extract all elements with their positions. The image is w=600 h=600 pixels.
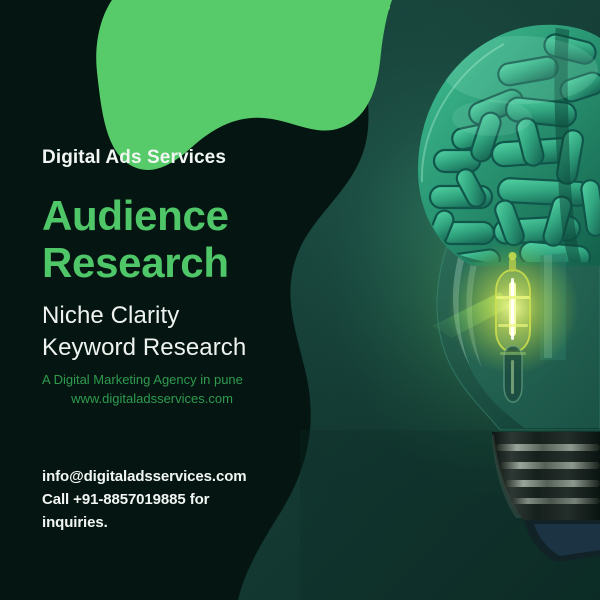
page-title: Audience Research — [42, 192, 229, 286]
headline-line-1: Audience — [42, 192, 229, 239]
service-item-niche-clarity: Niche Clarity — [42, 300, 246, 332]
contact-phone-line2: inquiries. — [42, 512, 247, 535]
agency-description: A Digital Marketing Agency in pune — [42, 371, 262, 390]
service-item-keyword-research: Keyword Research — [42, 332, 246, 364]
contact-phone-line1[interactable]: Call +91-8857019885 for — [42, 489, 247, 512]
brand-eyebrow: Digital Ads Services — [42, 147, 226, 169]
contact-block: info@digitaladsservices.com Call +91-885… — [42, 466, 247, 534]
poster-canvas: Digital Ads Services Audience Research N… — [0, 0, 600, 600]
headline-line-2: Research — [42, 239, 229, 286]
agency-website[interactable]: www.digitaladsservices.com — [42, 390, 262, 409]
contact-email[interactable]: info@digitaladsservices.com — [42, 466, 247, 489]
service-list: Niche Clarity Keyword Research — [42, 300, 246, 363]
agency-tagline: A Digital Marketing Agency in pune www.d… — [42, 371, 262, 409]
text-content: Digital Ads Services Audience Research N… — [0, 0, 600, 600]
